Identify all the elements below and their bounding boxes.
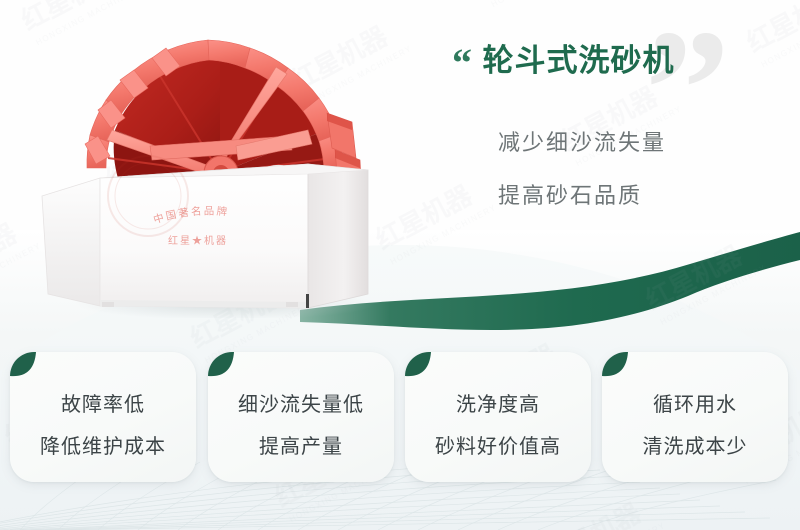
svg-text:红星★机器: 红星★机器	[168, 234, 228, 247]
leaf-icon	[208, 352, 244, 388]
product-image-sand-washer: 中国著名品牌 红星★机器	[40, 18, 400, 318]
promo-banner: 红星机器 HONGXING MACHINERY	[0, 0, 800, 530]
leaf-icon	[405, 352, 441, 388]
feature-card[interactable]: 循环用水 清洗成本少	[602, 352, 788, 482]
feature-card-line-1: 故障率低	[10, 388, 196, 422]
feature-card-text: 故障率低 降低维护成本	[10, 388, 196, 464]
subtitle-line-1: 减少细沙流失量	[498, 125, 666, 157]
subtitle-line-2: 提高砂石品质	[498, 178, 642, 210]
page-title: 轮斗式洗砂机	[482, 42, 674, 80]
feature-card[interactable]: 细沙流失量低 提高产量	[208, 352, 394, 482]
headline-group: “ 轮斗式洗砂机	[452, 42, 782, 80]
feature-card-line-2: 砂料好价值高	[405, 430, 591, 464]
feature-card-text: 洗净度高 砂料好价值高	[405, 388, 591, 464]
feature-card-line-2: 清洗成本少	[602, 430, 788, 464]
feature-card-text: 细沙流失量低 提高产量	[208, 388, 394, 464]
feature-card[interactable]: 洗净度高 砂料好价值高	[405, 352, 591, 482]
feature-card-line-1: 洗净度高	[405, 388, 591, 422]
leaf-icon	[10, 352, 46, 388]
feature-card-text: 循环用水 清洗成本少	[602, 388, 788, 464]
feature-card-line-2: 提高产量	[208, 430, 394, 464]
feature-card-line-1: 循环用水	[602, 388, 788, 422]
feature-card-line-1: 细沙流失量低	[208, 388, 394, 422]
quote-open-icon: “	[452, 48, 472, 78]
leaf-icon	[602, 352, 638, 388]
feature-card[interactable]: 故障率低 降低维护成本	[10, 352, 196, 482]
feature-card-line-2: 降低维护成本	[10, 430, 196, 464]
feature-card-list: 故障率低 降低维护成本 细沙流失量低 提高产量 洗净度高 砂料好价值高	[0, 352, 800, 487]
